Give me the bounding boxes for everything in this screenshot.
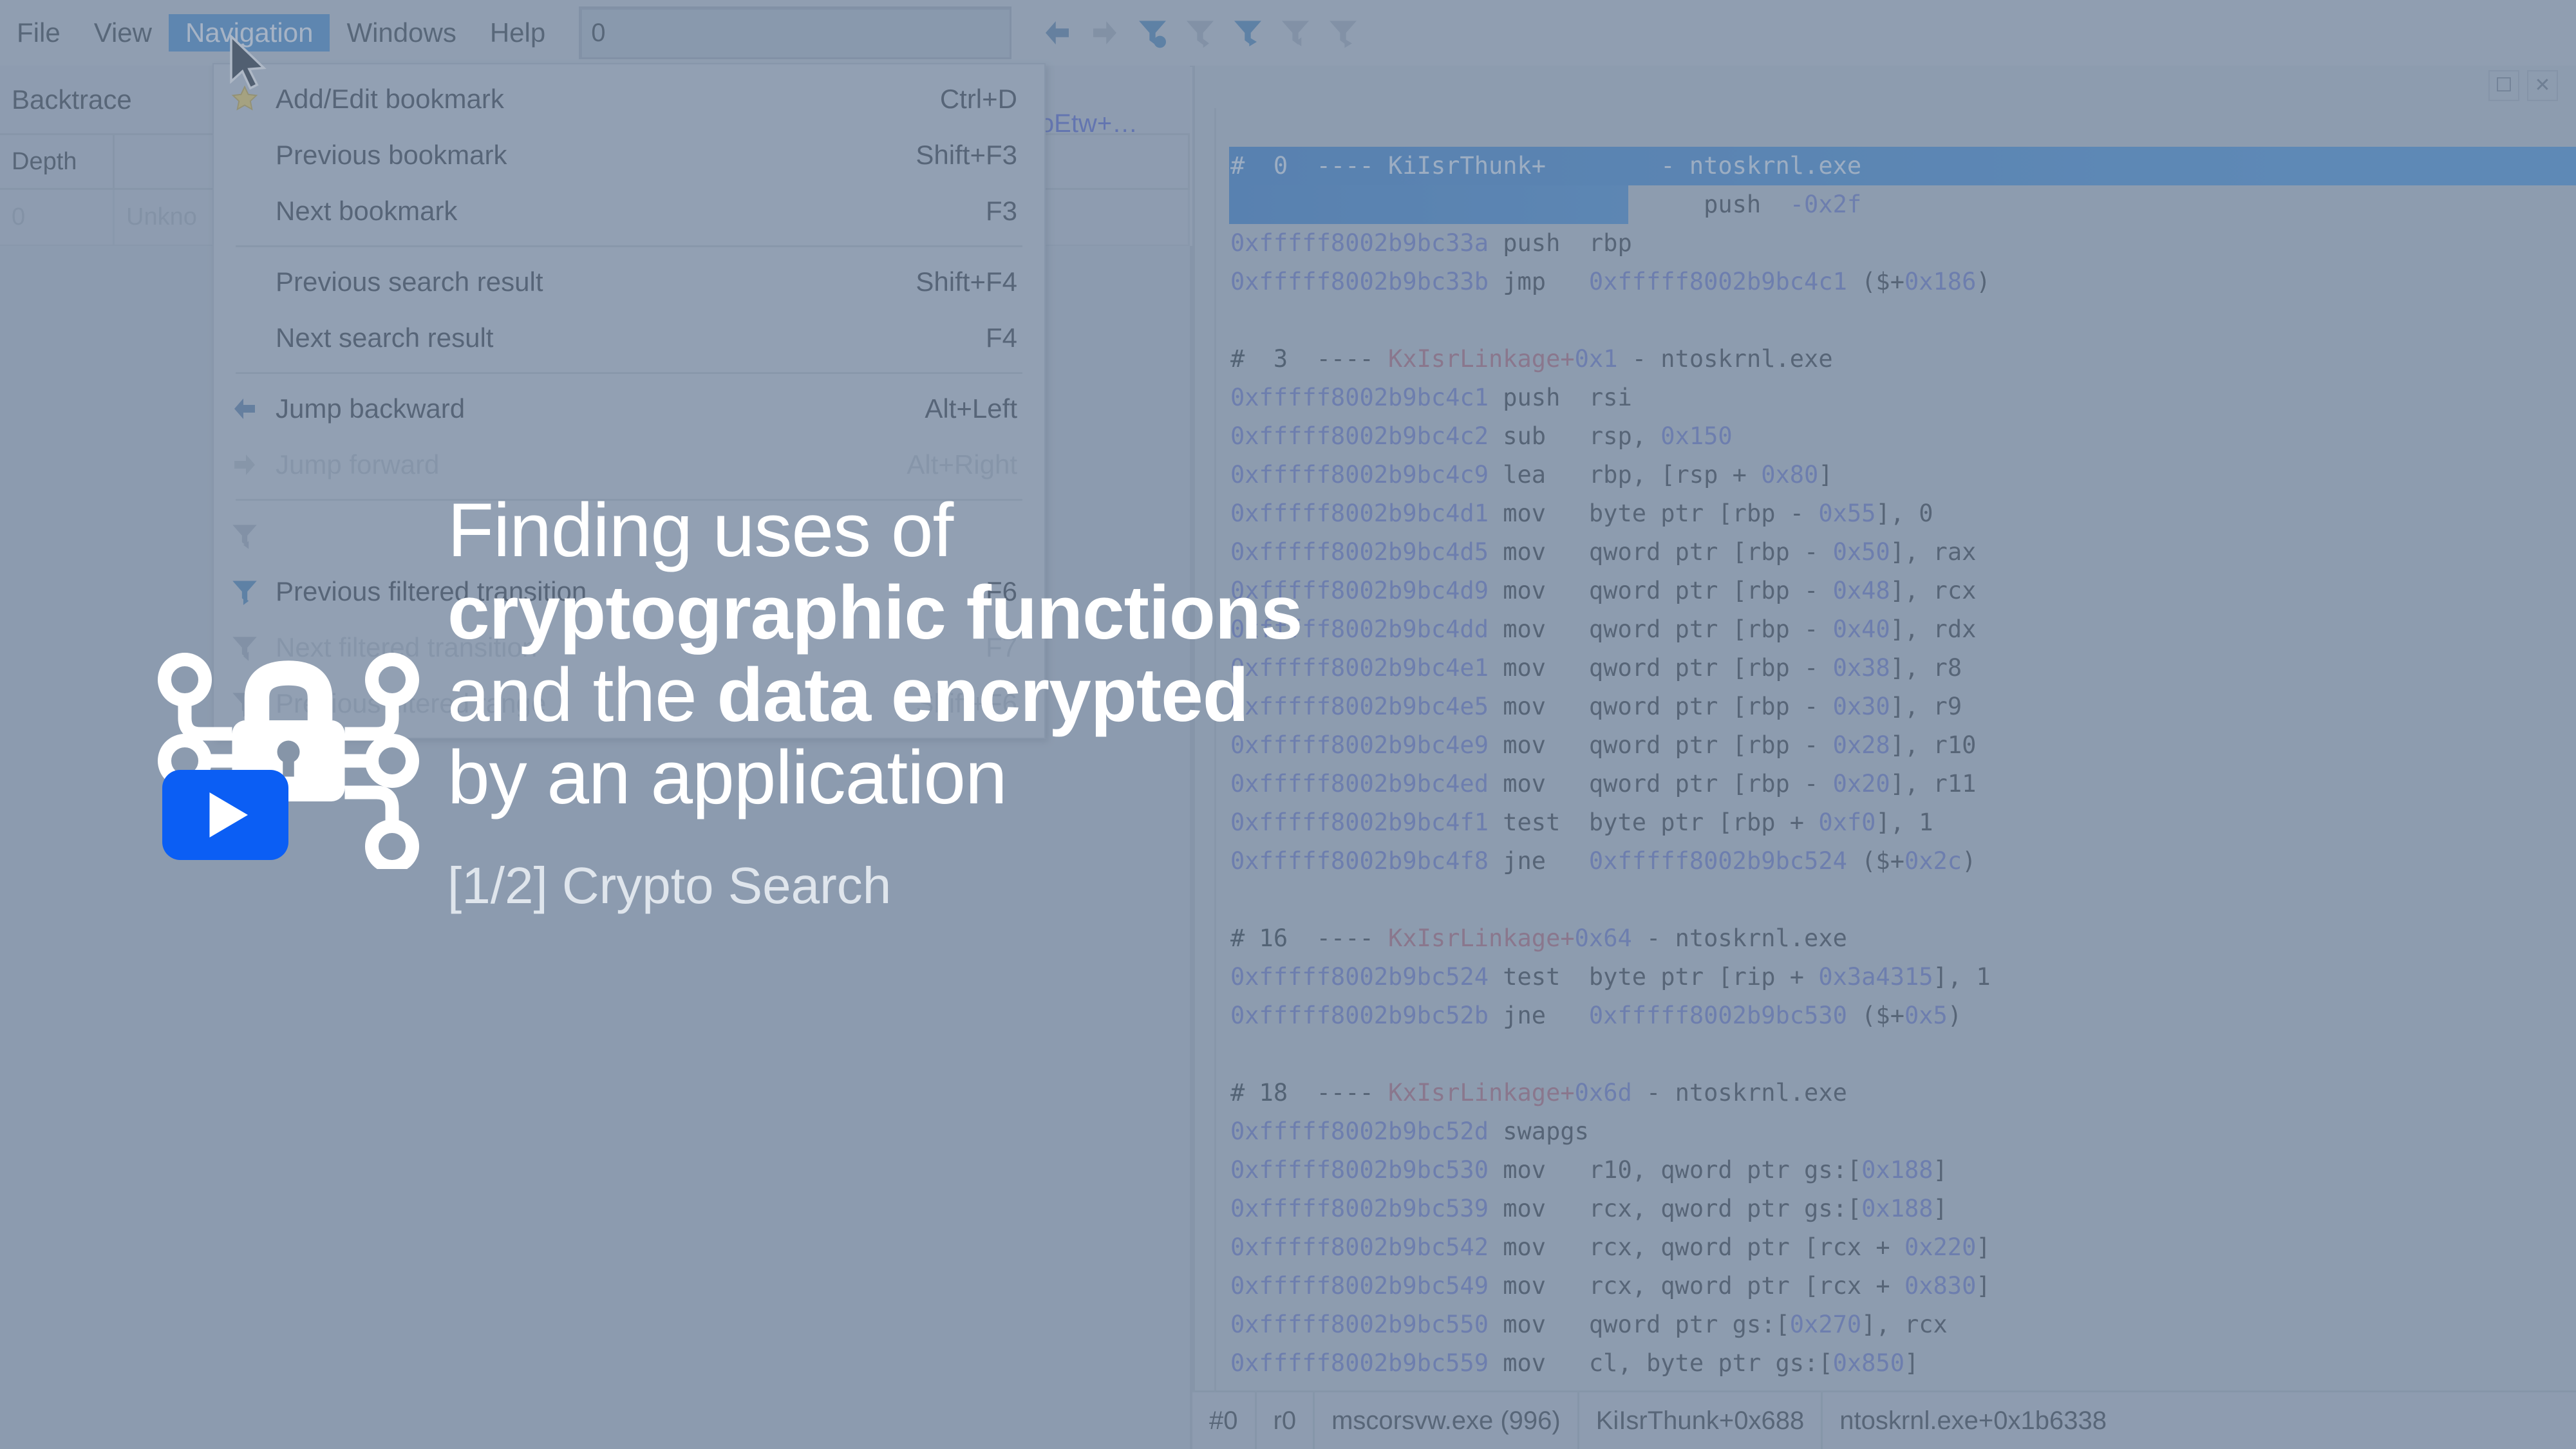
previous-filtered-range-icon[interactable] (1224, 9, 1272, 57)
code-line[interactable]: 0xfffff8002b9bc550 mov qword ptr gs:[0x2… (1230, 1305, 2576, 1344)
close-icon[interactable]: ✕ (2527, 70, 2558, 101)
funnel-prev-icon (214, 519, 276, 552)
code-line[interactable]: 0xfffff8002b9bc4d5 mov qword ptr [rbp - … (1230, 533, 2576, 572)
code-line[interactable]: push -0x2f (1230, 185, 2576, 224)
search-field-wrapper[interactable] (579, 6, 1011, 59)
status-register[interactable]: r0 (1257, 1392, 1315, 1449)
menu-item-label: Jump backward (276, 393, 925, 424)
menu-item-shortcut: F7 (986, 632, 1017, 663)
jump-backward-icon[interactable] (1033, 9, 1081, 57)
code-line[interactable]: 0xfffff8002b9bc4e5 mov qword ptr [rbp - … (1230, 687, 2576, 726)
code-line[interactable]: 0xfffff8002b9bc524 test byte ptr [rip + … (1230, 958, 2576, 996)
frame-line[interactable]: # 18 ---- KxIsrLinkage+0x6d - ntoskrnl.e… (1230, 1074, 2576, 1112)
menubar-item-file[interactable]: File (0, 14, 77, 51)
code-line[interactable]: 0xfffff8002b9bc559 mov cl, byte ptr gs:[… (1230, 1344, 2576, 1383)
menu-bar: File View Navigation Windows Help (0, 0, 2576, 67)
menubar-item-help[interactable]: Help (473, 14, 562, 51)
disassembly-listing[interactable]: # 0 ---- KiIsrThunk+ - ntoskrnl.exe push… (1214, 108, 2576, 1392)
code-line[interactable]: 0xfffff8002b9bc549 mov rcx, qword ptr [r… (1230, 1267, 2576, 1305)
frame-line[interactable]: # 16 ---- KxIsrLinkage+0x64 - ntoskrnl.e… (1230, 919, 2576, 958)
code-line[interactable]: 0xfffff8002b9bc4c9 lea rbp, [rsp + 0x80] (1230, 456, 2576, 494)
application-window: File View Navigation Windows Help (0, 0, 2576, 1449)
funnel-next-icon (214, 575, 276, 608)
code-line[interactable]: 0xfffff8002b9bc4ed mov qword ptr [rbp - … (1230, 765, 2576, 803)
status-bar: #0 r0 mscorsvw.exe (996) KiIsrThunk+0x68… (1192, 1390, 2576, 1449)
panel-header: ☐ ✕ (1195, 66, 2576, 106)
menu-item-label: Next filtered transition (276, 632, 986, 663)
menubar-item-view[interactable]: View (77, 14, 169, 51)
menu-item-label: Previous filtered range (276, 688, 916, 719)
menu-item-next-search-result[interactable]: Next search result F4 (214, 310, 1044, 366)
menu-item-shortcut: Ctrl+D (940, 84, 1017, 115)
menu-item-label: Jump forward (276, 449, 907, 480)
arrow-right-icon (214, 449, 276, 480)
menu-item-previous-search-result[interactable]: Previous search result Shift+F4 (214, 254, 1044, 310)
cell-depth: 0 (0, 190, 115, 245)
code-line[interactable]: 0xfffff8002b9bc52d swapgs (1230, 1112, 2576, 1151)
code-line[interactable]: 0xfffff8002b9bc4f8 jne 0xfffff8002b9bc52… (1230, 842, 2576, 881)
menu-item-previous-bookmark[interactable]: Previous bookmark Shift+F3 (214, 127, 1044, 183)
menu-item-shortcut: Shift+F6 (916, 688, 1017, 719)
filter-icon[interactable] (1319, 9, 1367, 57)
menu-item-next-filtered-range: Previous filtered range Shift+F6 (214, 675, 1044, 731)
code-line[interactable]: 0xfffff8002b9bc4f1 test byte ptr [rbp + … (1230, 803, 2576, 842)
code-line[interactable]: 0xfffff8002b9bc33b jmp 0xfffff8002b9bc4c… (1230, 263, 2576, 301)
code-line[interactable]: 0xfffff8002b9bc530 mov r10, qword ptr gs… (1230, 1151, 2576, 1190)
code-line[interactable]: 0xfffff8002b9bc4c1 push rsi (1230, 379, 2576, 417)
code-line[interactable]: 0xfffff8002b9bc4c2 sub rsp, 0x150 (1230, 417, 2576, 456)
menu-item-previous-filtered-range: Next filtered transition F7 (214, 619, 1044, 675)
arrow-left-icon (214, 393, 276, 424)
blank-line (1230, 301, 2576, 340)
blank-line (1230, 881, 2576, 919)
backtrace-title: Backtrace (0, 84, 132, 115)
menu-item-label: Previous bookmark (276, 140, 916, 171)
menu-item-shortcut: Shift+F4 (916, 266, 1017, 297)
code-line[interactable]: 0xfffff8002b9bc4d9 mov qword ptr [rbp - … (1230, 572, 2576, 610)
code-line[interactable]: 0xfffff8002b9bc33a push rbp (1230, 224, 2576, 263)
funnel-range-prev-icon (214, 631, 276, 664)
code-line[interactable]: 0xfffff8002b9bc52b jne 0xfffff8002b9bc53… (1230, 996, 2576, 1035)
menu-item-jump-forward: Jump forward Alt+Right (214, 436, 1044, 492)
jump-forward-icon (1081, 9, 1129, 57)
menu-item-label: Previous search result (276, 266, 916, 297)
menu-item-shortcut: F4 (986, 323, 1017, 353)
next-filtered-range-icon[interactable] (1272, 9, 1319, 57)
mouse-cursor (227, 33, 272, 98)
search-input[interactable] (581, 18, 1010, 48)
menu-item-label: Add/Edit bookmark (276, 84, 940, 115)
status-frame-index[interactable]: #0 (1192, 1392, 1257, 1449)
menu-item-next-bookmark[interactable]: Next bookmark F3 (214, 183, 1044, 239)
menu-separator (236, 372, 1022, 374)
menu-item-next-filtered-transition[interactable]: Previous filtered transition F6 (214, 563, 1044, 619)
menu-item-label: Next bookmark (276, 196, 986, 227)
menu-item-shortcut: Shift+F3 (916, 140, 1017, 171)
menu-separator (236, 499, 1022, 501)
status-process[interactable]: mscorsvw.exe (996) (1315, 1392, 1579, 1449)
screenshot-root: File View Navigation Windows Help (0, 0, 2576, 1449)
funnel-range-next-icon (214, 687, 276, 720)
menu-separator (236, 245, 1022, 247)
previous-filtered-transition-icon[interactable] (1129, 9, 1176, 57)
blank-line (1230, 1035, 2576, 1074)
code-line[interactable]: 0xfffff8002b9bc4d1 mov byte ptr [rbp - 0… (1230, 494, 2576, 533)
menubar-item-windows[interactable]: Windows (330, 14, 473, 51)
status-symbol[interactable]: KiIsrThunk+0x688 (1579, 1392, 1823, 1449)
restore-icon[interactable]: ☐ (2488, 70, 2519, 101)
code-line[interactable]: 0xfffff8002b9bc4dd mov qword ptr [rbp - … (1230, 610, 2576, 649)
menu-item-label: Previous filtered transition (276, 576, 986, 607)
code-line[interactable]: 0xfffff8002b9bc4e1 mov qword ptr [rbp - … (1230, 649, 2576, 687)
code-line[interactable]: 0xfffff8002b9bc539 mov rcx, qword ptr gs… (1230, 1190, 2576, 1228)
menu-item-label: Next search result (276, 323, 986, 353)
menu-item-shortcut: F6 (986, 576, 1017, 607)
code-line[interactable]: 0xfffff8002b9bc4e9 mov qword ptr [rbp - … (1230, 726, 2576, 765)
navigation-dropdown-menu[interactable]: Add/Edit bookmark Ctrl+D Previous bookma… (212, 63, 1046, 739)
menu-item-jump-backward[interactable]: Jump backward Alt+Left (214, 380, 1044, 436)
menu-item-shortcut: Alt+Left (925, 393, 1017, 424)
menu-item-shortcut: Alt+Right (907, 449, 1017, 480)
menu-item-add-edit-bookmark[interactable]: Add/Edit bookmark Ctrl+D (214, 71, 1044, 127)
status-module-offset[interactable]: ntoskrnl.exe+0x1b6338 (1823, 1392, 2123, 1449)
column-header-depth[interactable]: Depth (0, 135, 115, 188)
code-line[interactable]: 0xfffff8002b9bc542 mov rcx, qword ptr [r… (1230, 1228, 2576, 1267)
frame-line[interactable]: # 0 ---- KiIsrThunk+ - ntoskrnl.exe (1230, 147, 2576, 185)
frame-line[interactable]: # 3 ---- KxIsrLinkage+0x1 - ntoskrnl.exe (1230, 340, 2576, 379)
menu-item-previous-filtered-transition (214, 507, 1044, 563)
menu-item-shortcut: F3 (986, 196, 1017, 227)
disassembly-panel: ☐ ✕ # 0 ---- KiIsrThunk+ - ntoskrnl.exe … (1192, 66, 2576, 1392)
next-filtered-transition-icon[interactable] (1176, 9, 1224, 57)
